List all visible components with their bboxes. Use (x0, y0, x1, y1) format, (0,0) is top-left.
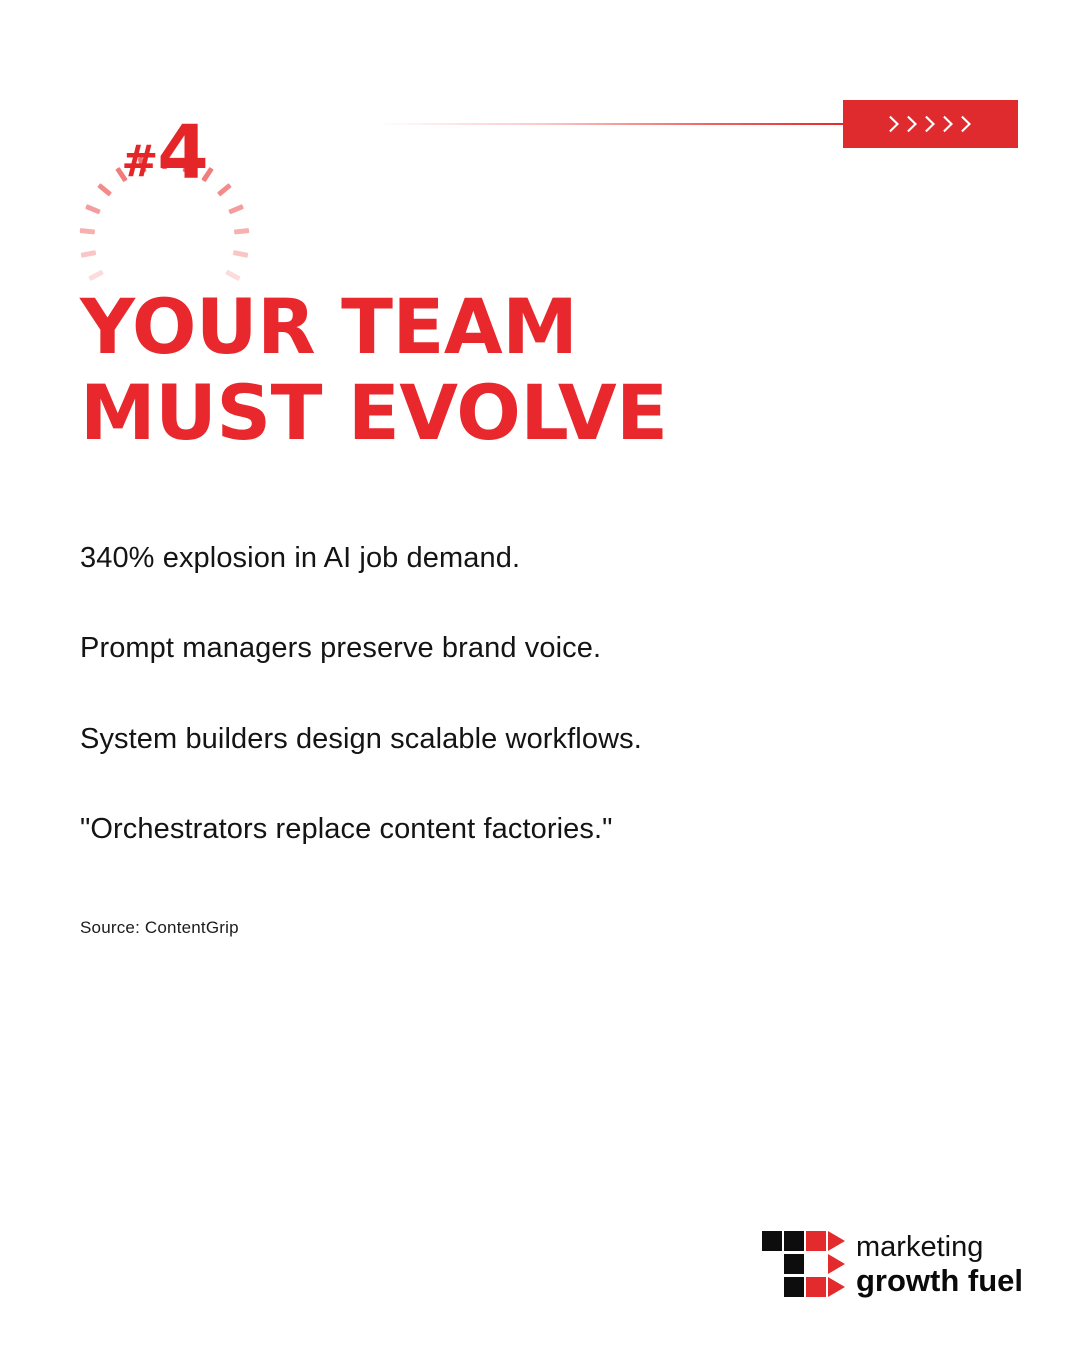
gauge-tick-1 (88, 269, 104, 280)
top-bar: #4 (0, 0, 1080, 250)
body-copy: 340% explosion in AI job demand. Prompt … (80, 540, 960, 847)
gauge-tick-12 (228, 204, 244, 214)
body-line-1: 340% explosion in AI job demand. (80, 540, 960, 576)
number-gauge-badge: #4 (76, 68, 252, 220)
logo-cell-r1c2 (784, 1231, 804, 1251)
logo-wordmark: marketing growth fuel (856, 1233, 1023, 1296)
logo-mark-icon (762, 1231, 840, 1297)
logo-arrow-r1 (828, 1231, 845, 1251)
logo-cell-r1c1 (762, 1231, 782, 1251)
gauge-tick-14 (232, 250, 248, 258)
brand-logo: marketing growth fuel (762, 1226, 1024, 1302)
logo-arrow-r2 (828, 1254, 845, 1274)
gauge-tick-13 (233, 228, 248, 234)
chevron-right-icon-2 (907, 115, 918, 133)
page-title: YOUR TEAM MUST EVOLVE (80, 284, 940, 456)
headline-line-1: YOUR TEAM (80, 284, 940, 370)
logo-text-line-1: marketing (856, 1233, 1023, 1262)
chevron-right-icon-4 (943, 115, 954, 133)
chevron-right-icon-5 (961, 115, 972, 133)
body-line-3: System builders design scalable workflow… (80, 721, 960, 757)
logo-arrow-r3 (828, 1277, 845, 1297)
gauge-tick-2 (80, 250, 96, 258)
logo-text-line-2: growth fuel (856, 1265, 1023, 1296)
chevron-badge[interactable] (843, 100, 1018, 148)
slide-canvas: #4 YOUR TEAM MUST EVOLVE 340% explosion … (0, 0, 1080, 1350)
slide-number-value: 4 (157, 110, 207, 196)
source-attribution: Source: ContentGrip (80, 918, 239, 938)
logo-cell-r2c2 (784, 1254, 804, 1274)
body-line-2: Prompt managers preserve brand voice. (80, 630, 960, 666)
slide-number: #4 (76, 116, 252, 190)
chevron-right-icon-3 (925, 115, 936, 133)
chevron-right-icon-1 (889, 115, 900, 133)
gauge-tick-15 (225, 269, 241, 280)
hash-symbol: # (121, 136, 157, 187)
logo-cell-r3c2 (784, 1277, 804, 1297)
body-line-4: "Orchestrators replace content factories… (80, 811, 960, 847)
gauge-tick-4 (85, 204, 101, 214)
logo-cell-r1c3 (806, 1231, 826, 1251)
gauge-tick-3 (79, 228, 94, 234)
logo-cell-r3c3 (806, 1277, 826, 1297)
headline-line-2: MUST EVOLVE (80, 370, 940, 456)
connector-rule (378, 123, 846, 125)
